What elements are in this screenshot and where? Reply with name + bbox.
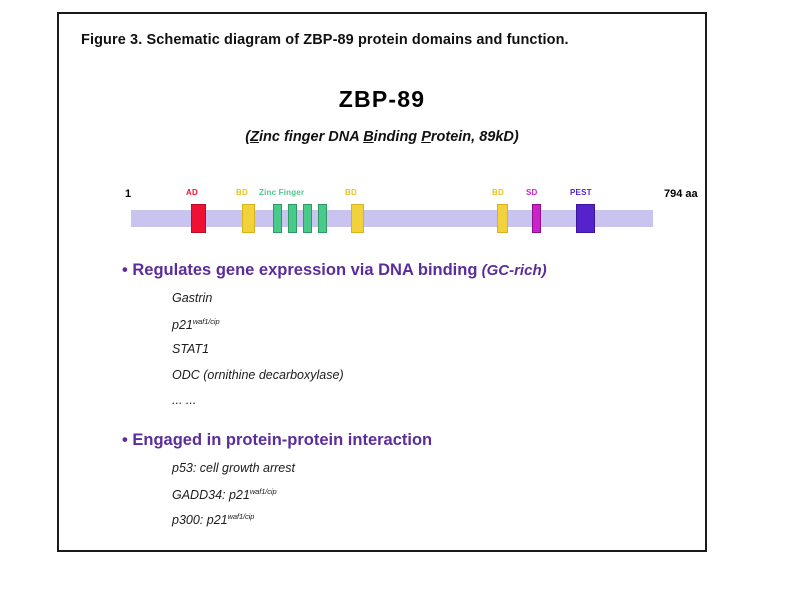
- residue-end-label: 794 aa: [664, 188, 698, 200]
- list-item-superscript: waf1/cip: [228, 512, 255, 521]
- domain-label-pest: PEST: [570, 188, 592, 197]
- list-item-text: p300: p21: [172, 513, 228, 527]
- subtitle-text-3: rotein, 89kD): [431, 129, 519, 145]
- figure-caption: Figure 3. Schematic diagram of ZBP-89 pr…: [81, 32, 569, 48]
- list-item: p53: cell growth arrest: [172, 461, 295, 475]
- list-item: GADD34: p21waf1/cip: [172, 487, 277, 502]
- slide-frame: Figure 3. Schematic diagram of ZBP-89 pr…: [57, 12, 707, 552]
- list-item-text: p21: [172, 318, 193, 332]
- bullet-heading-text: Engaged in protein-protein interaction: [132, 431, 432, 449]
- protein-backbone-track: [131, 210, 653, 227]
- domain-block-bd-3: [497, 204, 508, 233]
- list-item: ODC (ornithine decarboxylase): [172, 368, 344, 382]
- domain-block-sd: [532, 204, 541, 233]
- list-item-text: Gastrin: [172, 291, 212, 305]
- domain-label-ad: AD: [186, 188, 198, 197]
- subtitle-text-1: inc finger DNA: [259, 129, 363, 145]
- bullet-glyph: •: [122, 261, 132, 279]
- list-item-text: STAT1: [172, 342, 209, 356]
- list-item: ... ...: [172, 393, 196, 407]
- list-item: Gastrin: [172, 291, 212, 305]
- domain-block-zinc-finger-1: [273, 204, 282, 233]
- list-item: p300: p21waf1/cip: [172, 512, 254, 527]
- list-item: STAT1: [172, 342, 209, 356]
- bullet-heading-1: • Regulates gene expression via DNA bind…: [122, 261, 547, 280]
- protein-domain-diagram: 1 794 aa ADBDZinc FingerBDBDSDPEST: [89, 174, 677, 234]
- protein-subtitle: (Zinc finger DNA Binding Protein, 89kD): [59, 129, 705, 145]
- bullet-glyph: •: [122, 431, 132, 449]
- domain-block-bd-1: [242, 204, 255, 233]
- subtitle-underline-p: P: [421, 129, 431, 145]
- domain-label-bd-1: BD: [236, 188, 248, 197]
- domain-block-zinc-finger-3: [303, 204, 312, 233]
- domain-block-bd-2: [351, 204, 364, 233]
- domain-label-bd-3: BD: [492, 188, 504, 197]
- list-item-superscript: waf1/cip: [250, 487, 277, 496]
- bullet-heading-text: Regulates gene expression via DNA bindin…: [132, 261, 477, 279]
- residue-start-label: 1: [125, 188, 131, 200]
- list-item-text: p53: cell growth arrest: [172, 461, 295, 475]
- list-item-text: ODC (ornithine decarboxylase): [172, 368, 344, 382]
- list-item-superscript: waf1/cip: [193, 317, 220, 326]
- domain-block-ad: [191, 204, 206, 233]
- domain-block-zinc-finger-4: [318, 204, 327, 233]
- list-item: p21waf1/cip: [172, 317, 220, 332]
- list-item-text: ... ...: [172, 393, 196, 407]
- subtitle-underline-b: B: [363, 129, 373, 145]
- subtitle-underline-z: Z: [250, 129, 259, 145]
- list-item-text: GADD34: p21: [172, 488, 250, 502]
- domain-block-pest: [576, 204, 595, 233]
- domain-block-zinc-finger-2: [288, 204, 297, 233]
- bullet-heading-note: (GC-rich): [477, 262, 546, 279]
- domain-label-bd-2: BD: [345, 188, 357, 197]
- domain-label-sd: SD: [526, 188, 538, 197]
- domain-label-zf: Zinc Finger: [259, 188, 304, 197]
- bullet-heading-2: • Engaged in protein-protein interaction: [122, 431, 432, 450]
- subtitle-text-2: inding: [374, 129, 422, 145]
- page-title: ZBP-89: [59, 86, 705, 113]
